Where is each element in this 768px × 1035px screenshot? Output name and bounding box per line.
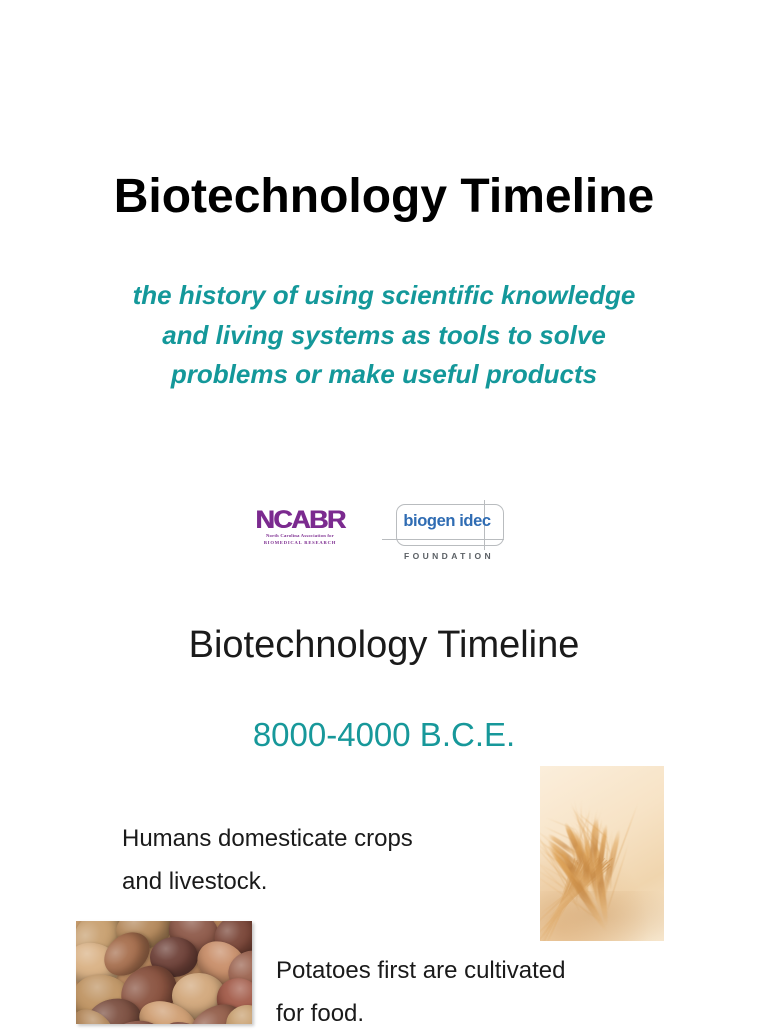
entry-potatoes-line-1: Potatoes first are cultivated: [276, 950, 676, 993]
subtitle-line-3: problems or make useful products: [84, 355, 684, 395]
biogen-wordmark: biogen idec: [380, 513, 514, 530]
era-label: 8000-4000 B.C.E.: [0, 716, 768, 754]
entry-crops-line-1: Humans domesticate crops: [122, 818, 522, 861]
biogen-horizontal-rule-icon: [382, 539, 504, 540]
subtitle-line-1: the history of using scientific knowledg…: [84, 276, 684, 316]
subtitle-line-2: and living systems as tools to solve: [84, 316, 684, 356]
potatoes-photo: [76, 921, 252, 1024]
slide-heading: Biotechnology Timeline: [0, 624, 768, 667]
ncabr-logo: NCABR North Carolina Association for BIO…: [240, 508, 360, 546]
sponsor-logo-row: NCABR North Carolina Association for BIO…: [230, 500, 540, 570]
ncabr-tagline-line-2: BIOMEDICAL RESEARCH: [240, 540, 360, 547]
wheat-grain-head: [583, 845, 589, 895]
entry-crops-line-2: and livestock.: [122, 861, 522, 904]
biogen-foundation-label: FOUNDATION: [380, 552, 518, 561]
entry-potatoes-line-2: for food.: [276, 993, 676, 1035]
subtitle-block: the history of using scientific knowledg…: [84, 276, 684, 395]
timeline-entry-potatoes-text: Potatoes first are cultivated for food.: [276, 950, 676, 1035]
title-slide: Biotechnology Timeline the history of us…: [0, 0, 768, 598]
biogen-idec-foundation-logo: biogen idec FOUNDATION: [380, 500, 530, 570]
timeline-entry-crops-text: Humans domesticate crops and livestock.: [122, 818, 522, 903]
page-title: Biotechnology Timeline: [0, 170, 768, 224]
ncabr-wordmark-icon: NCABR: [235, 508, 365, 533]
wheat-sheaf-photo: [540, 766, 664, 941]
